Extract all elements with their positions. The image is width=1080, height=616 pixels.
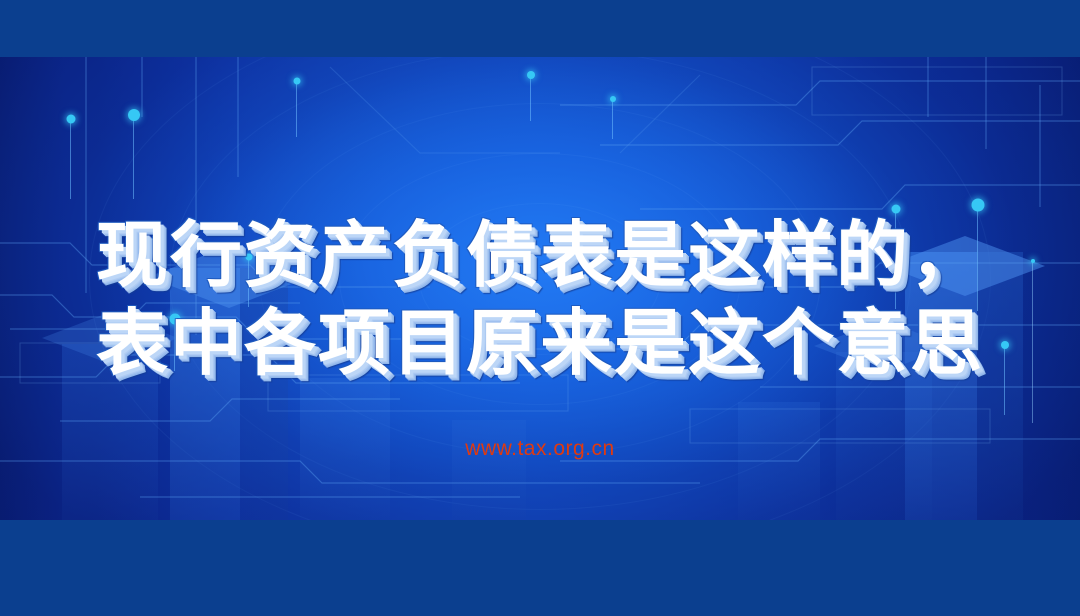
poster-image: 现行资产负债表是这样的， 表中各项目原来是这个意思 www.tax.org.cn…: [0, 0, 1080, 616]
node-pin: [296, 81, 297, 137]
title-line-1: 现行资产负债表是这样的，: [0, 217, 1080, 295]
node-pin: [530, 75, 531, 121]
node-pin: [612, 99, 613, 139]
title-line-2: 表中各项目原来是这个意思: [0, 305, 1080, 383]
node-pin: [133, 115, 134, 199]
frame-band-bottom: [0, 520, 1080, 616]
poster-artwork: 现行资产负债表是这样的， 表中各项目原来是这个意思 www.tax.org.cn…: [0, 57, 1080, 520]
frame-band-top: [0, 0, 1080, 57]
website-url: www.tax.org.cn: [0, 437, 1080, 461]
node-pin: [70, 119, 71, 199]
